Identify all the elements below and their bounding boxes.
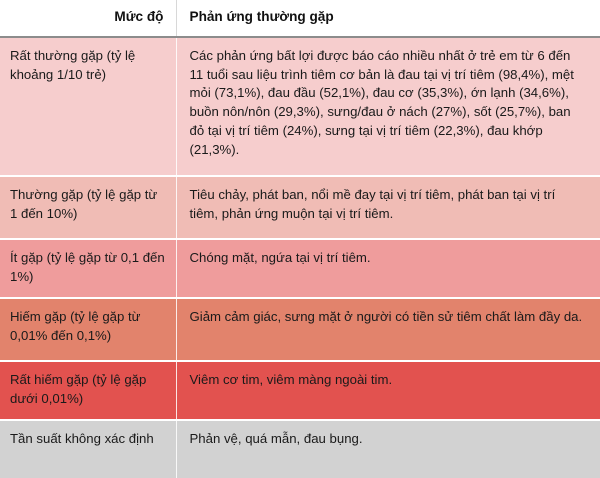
table-row: Thường gặp (tỷ lệ gặp từ 1 đến 10%) Tiêu…	[0, 176, 600, 239]
cell-reaction: Chóng mặt, ngứa tại vị trí tiêm.	[176, 239, 600, 298]
adverse-reactions-table-container: Mức độ Phản ứng thường gặp Rất thường gặ…	[0, 0, 600, 448]
table-row: Rất hiếm gặp (tỷ lệ gặp dưới 0,01%) Viêm…	[0, 361, 600, 420]
column-header-level: Mức độ	[0, 0, 176, 37]
cell-level: Rất hiếm gặp (tỷ lệ gặp dưới 0,01%)	[0, 361, 176, 420]
table-body: Rất thường gặp (tỷ lệ khoảng 1/10 trẻ) C…	[0, 37, 600, 478]
table-row: Tần suất không xác định Phản vệ, quá mẫn…	[0, 420, 600, 478]
cell-level: Hiếm gặp (tỷ lệ gặp từ 0,01% đến 0,1%)	[0, 298, 176, 361]
table-row: Hiếm gặp (tỷ lệ gặp từ 0,01% đến 0,1%) G…	[0, 298, 600, 361]
table-header: Mức độ Phản ứng thường gặp	[0, 0, 600, 37]
cell-reaction: Tiêu chảy, phát ban, nổi mề đay tại vị t…	[176, 176, 600, 239]
cell-level: Rất thường gặp (tỷ lệ khoảng 1/10 trẻ)	[0, 37, 176, 176]
cell-reaction: Phản vệ, quá mẫn, đau bụng.	[176, 420, 600, 478]
cell-reaction: Giảm cảm giác, sưng mặt ở người có tiền …	[176, 298, 600, 361]
table-row: Ít gặp (tỷ lệ gặp từ 0,1 đến 1%) Chóng m…	[0, 239, 600, 298]
cell-level: Thường gặp (tỷ lệ gặp từ 1 đến 10%)	[0, 176, 176, 239]
cell-level: Tần suất không xác định	[0, 420, 176, 478]
table-row: Rất thường gặp (tỷ lệ khoảng 1/10 trẻ) C…	[0, 37, 600, 176]
column-header-reaction: Phản ứng thường gặp	[176, 0, 600, 37]
cell-level: Ít gặp (tỷ lệ gặp từ 0,1 đến 1%)	[0, 239, 176, 298]
table-header-row: Mức độ Phản ứng thường gặp	[0, 0, 600, 37]
cell-reaction: Các phản ứng bất lợi được báo cáo nhiều …	[176, 37, 600, 176]
cell-reaction: Viêm cơ tim, viêm màng ngoài tim.	[176, 361, 600, 420]
adverse-reactions-table: Mức độ Phản ứng thường gặp Rất thường gặ…	[0, 0, 600, 478]
